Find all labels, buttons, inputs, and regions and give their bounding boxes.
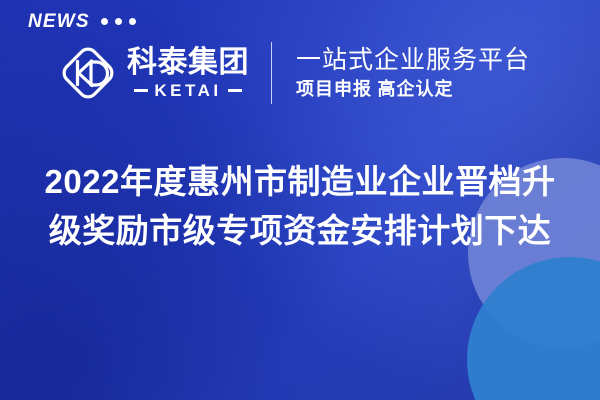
brand-wordmark: 科泰集团 KETAI <box>127 47 249 99</box>
tagline-primary: 一站式企业服务平台 <box>296 46 530 76</box>
tagline-block: 一站式企业服务平台 项目申报 高企认定 <box>296 46 530 101</box>
company-name-cn: 科泰集团 <box>127 47 249 79</box>
ketai-kd-diamond-logo-icon <box>58 43 118 103</box>
brand-row: 科泰集团 KETAI 一站式企业服务平台 项目申报 高企认定 <box>58 42 530 104</box>
dot-icon <box>115 18 122 25</box>
headline: 2022年度惠州市制造业企业晋档升级奖励市级专项资金安排计划下达 <box>0 158 600 256</box>
dot-icon <box>101 18 108 25</box>
news-label: NEWS <box>28 12 90 31</box>
news-dots-icon <box>101 18 136 25</box>
tagline-secondary: 项目申报 高企认定 <box>296 78 530 101</box>
decorative-circle-bright <box>467 257 600 400</box>
dot-icon <box>129 18 136 25</box>
company-name-en-wrap: KETAI <box>127 82 249 99</box>
wordmark-rule-right <box>228 89 242 92</box>
news-kicker: NEWS <box>28 12 136 31</box>
news-banner: NEWS 科泰集团 KETAI <box>0 0 600 400</box>
brand-logo-lockup: 科泰集团 KETAI <box>58 43 249 103</box>
brand-divider <box>271 42 272 104</box>
wordmark-rule-left <box>134 89 148 92</box>
company-name-en: KETAI <box>154 82 221 99</box>
